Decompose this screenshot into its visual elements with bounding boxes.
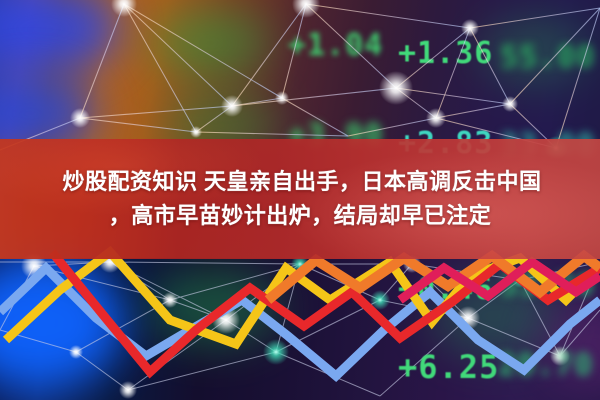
headline-line-1: 炒股配资知识 天皇亲自出手，日本高调反击中国 xyxy=(58,167,541,197)
ticker-value-8: +6.25 xyxy=(398,348,499,386)
banner-image: +1.04 +1.36 55.00 U +3.90 +2.83 33.00 U xyxy=(0,0,600,400)
headline-line-2: ，高市早苗妙计出炉，结局却早已注定 xyxy=(109,201,492,231)
headline-text: 炒股配资知识 天皇亲自出手，日本高调反击中国 ，高市早苗妙计出炉，结局却早已注定 xyxy=(0,139,600,259)
ticker-value-6: +0.46 xyxy=(398,272,493,307)
ticker-value-9: 20.70 U xyxy=(498,348,600,383)
headline-band: 炒股配资知识 天皇亲自出手，日本高调反击中国 ，高市早苗妙计出炉，结局却早已注定 xyxy=(0,139,600,259)
ticker-value-7: 33.20 xyxy=(500,268,595,303)
